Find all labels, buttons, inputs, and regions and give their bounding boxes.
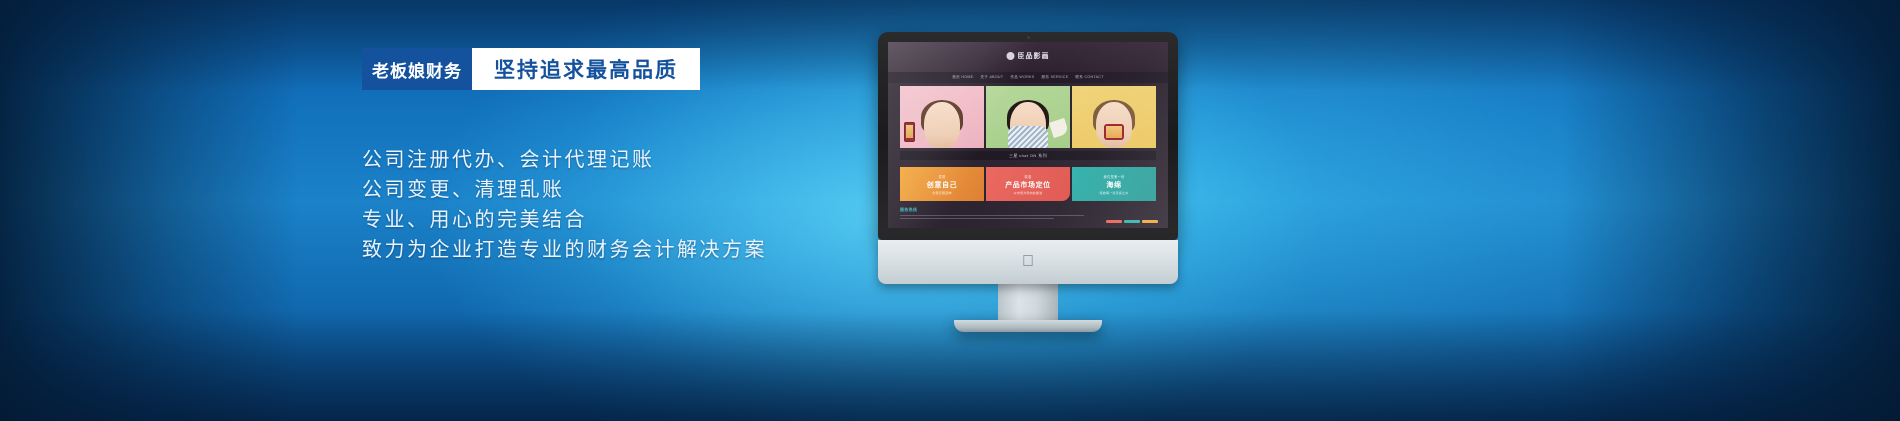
photo-card-1[interactable] (900, 86, 984, 148)
tile-kicker: 精准 (1025, 174, 1032, 179)
photo-card-2[interactable] (986, 86, 1070, 148)
website-logo-text: 臣品影画 (1018, 51, 1050, 61)
tile-title: 创意自己 (927, 180, 957, 190)
nav-item-service[interactable]: 服务 SERVICE (1042, 75, 1069, 80)
tile-title: 产品市场定位 (1005, 180, 1051, 190)
footer-text-placeholder (900, 215, 1156, 219)
tile-product[interactable]: 精准 产品市场定位 以市场为导向的策划 (986, 167, 1070, 201)
phone-prop-icon (1104, 124, 1124, 140)
imac-chin:  (878, 240, 1178, 284)
fan-prop-icon (1049, 118, 1069, 138)
banner-lines: 公司注册代办、会计代理记账 公司变更、清理乱账 专业、用心的完美结合 致力为企业… (362, 145, 832, 265)
nav-item-about[interactable]: 关于 ABOUT (980, 75, 1003, 80)
footer-color-chips (1106, 220, 1158, 223)
imac-stand-neck (998, 284, 1058, 320)
website-photo-row (888, 83, 1168, 148)
website-hero: 臣品影画 (888, 42, 1168, 72)
photo-card-3[interactable] (1072, 86, 1156, 148)
brand-tag: 老板娘财务 (362, 48, 472, 90)
banner-line-4: 致力为企业打造专业的财务会计解决方案 (362, 235, 832, 265)
banner-line-2: 公司变更、清理乱账 (362, 175, 832, 205)
website-tile-row: 发现 创意自己 创意无限延伸 精准 产品市场定位 以市场为导向的策划 我们是第一… (888, 160, 1168, 201)
tile-sub: 吸收每一滴灵感之水 (1100, 191, 1129, 195)
tile-sub: 以市场为导向的策划 (1014, 191, 1043, 195)
banner-copy: 老板娘财务 坚持追求最高品质 公司注册代办、会计代理记账 公司变更、清理乱账 专… (362, 48, 832, 265)
webcam-icon (1027, 36, 1030, 39)
banner-title: 老板娘财务 坚持追求最高品质 (362, 48, 677, 90)
imac-screen: 臣品影画 首页 HOME 关于 ABOUT 作品 WORKS 服务 SERVIC… (888, 42, 1168, 228)
banner-line-3: 专业、用心的完美结合 (362, 205, 832, 235)
website-logo[interactable]: 臣品影画 (1007, 51, 1050, 61)
imac-stand-base (954, 320, 1102, 332)
nav-item-home[interactable]: 首页 HOME (952, 75, 973, 80)
banner-line-1: 公司注册代办、会计代理记账 (362, 145, 832, 175)
tile-kicker: 我们是第一块 (1104, 174, 1125, 179)
nav-item-works[interactable]: 作品 WORKS (1010, 75, 1034, 80)
tile-title: 海绵 (1106, 180, 1121, 190)
banner-headline: 坚持追求最高品质 (472, 48, 700, 90)
website-footer: 服务热线 (888, 201, 1168, 219)
photo-caption-text: 三星 chat ON 系列 (1009, 153, 1047, 159)
right-vignette (1560, 0, 1900, 421)
phone-prop-icon (904, 122, 915, 142)
footer-title: 服务热线 (900, 207, 1156, 213)
imac-bezel: 臣品影画 首页 HOME 关于 ABOUT 作品 WORKS 服务 SERVIC… (878, 32, 1178, 240)
banner-root: 老板娘财务 坚持追求最高品质 公司注册代办、会计代理记账 公司变更、清理乱账 专… (0, 0, 1900, 421)
imac-mockup: 臣品影画 首页 HOME 关于 ABOUT 作品 WORKS 服务 SERVIC… (878, 32, 1178, 332)
dress-shape (1008, 126, 1048, 148)
left-vignette (0, 0, 300, 421)
nav-item-contact[interactable]: 联系 CONTACT (1075, 75, 1103, 80)
tile-sponge[interactable]: 我们是第一块 海绵 吸收每一滴灵感之水 (1072, 167, 1156, 201)
apple-logo-icon:  (1022, 254, 1034, 270)
tile-kicker: 发现 (939, 174, 946, 179)
logo-mark-icon (1007, 52, 1015, 60)
face-shape (924, 102, 960, 148)
website-nav: 首页 HOME 关于 ABOUT 作品 WORKS 服务 SERVICE 联系 … (888, 72, 1168, 83)
website-preview: 臣品影画 首页 HOME 关于 ABOUT 作品 WORKS 服务 SERVIC… (888, 42, 1168, 228)
tile-sub: 创意无限延伸 (932, 191, 951, 195)
tile-creative[interactable]: 发现 创意自己 创意无限延伸 (900, 167, 984, 201)
photo-caption: 三星 chat ON 系列 (900, 151, 1156, 160)
